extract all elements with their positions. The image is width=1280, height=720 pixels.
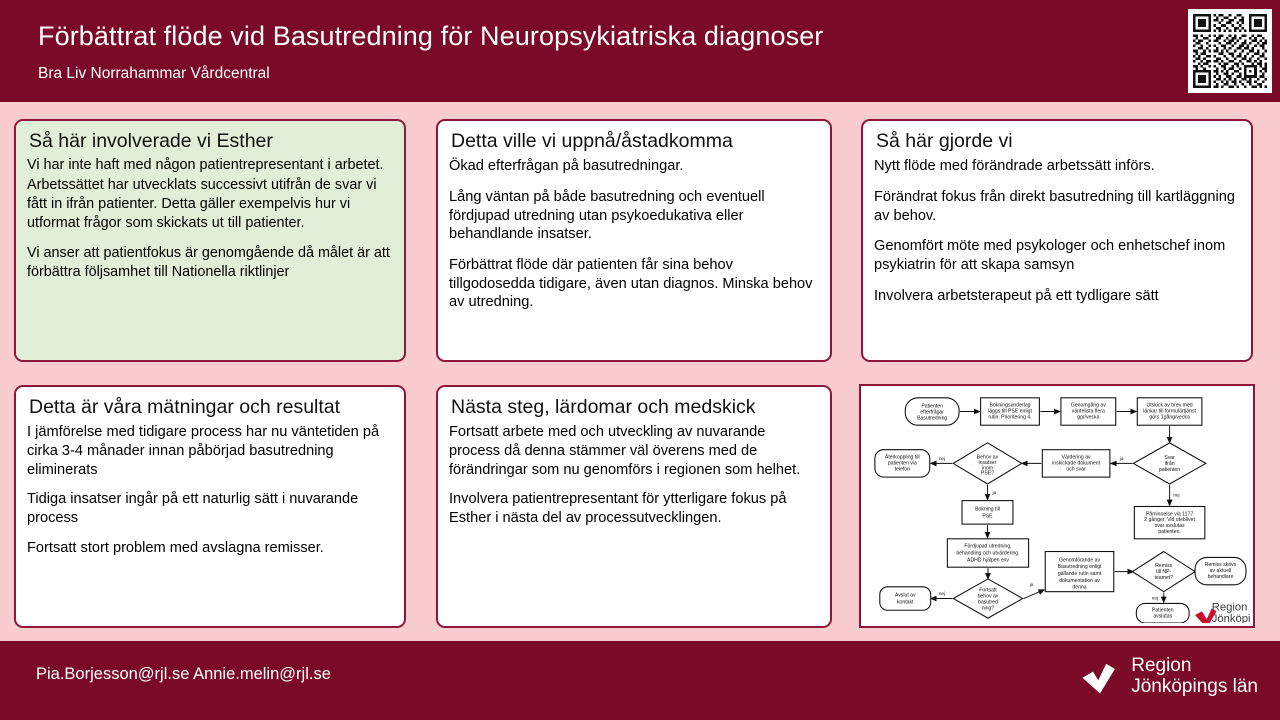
svg-text:patienten: patienten [1159,467,1180,473]
region-logo-line2: Jönköpings län [1131,676,1258,697]
svg-text:läggs till PSE enligt: läggs till PSE enligt [988,408,1032,414]
svg-text:ifrån: ifrån [1165,460,1175,467]
svg-text:denna: denna [1072,585,1086,591]
svg-text:ja: ja [1029,582,1034,587]
svg-text:PSE?: PSE? [981,471,994,477]
card-title: Så här gjorde vi [876,130,1240,153]
svg-text:ggr/vecka: ggr/vecka [1077,414,1099,420]
qr-code-container[interactable] [1188,9,1272,93]
svg-text:behov av: behov av [978,594,999,600]
card-paragraph: Förändrat fokus från direkt basutredning… [874,188,1240,225]
svg-text:nej: nej [939,591,945,596]
card-title: Nästa steg, lärdomar och medskick [451,396,819,419]
svg-text:nej: nej [1173,493,1179,498]
svg-text:Värdering av: Värdering av [1062,455,1091,461]
svg-text:avslutas: avslutas [1153,614,1172,620]
card-detta-ville-vi-uppna: Detta ville vi uppnå/åstadkomma Ökad eft… [436,119,832,362]
svg-text:Återkoppling till: Återkoppling till [885,454,920,461]
svg-text:basutred: basutred [978,599,998,605]
card-paragraph: Fortsatt arbete med och utveckling av nu… [449,423,819,479]
svg-text:Genomgång av: Genomgång av [1071,402,1106,409]
card-paragraph: Tidiga insatser ingår på ett naturlig sä… [27,490,393,527]
card-paragraph: Förbättrat flöde där patienten får sina … [449,256,819,312]
card-sa-har-involverade-vi-esther: Så här involverade vi Esther Vi har inte… [14,119,406,362]
qr-code-icon [1193,14,1267,88]
svg-text:PSE: PSE [982,513,993,519]
svg-text:Region: Region [1212,601,1248,613]
svg-text:och svar: och svar [1066,466,1086,472]
card-paragraph: Lång väntan på både basutredning och eve… [449,188,819,244]
svg-text:Utskick av brev med: Utskick av brev med [1147,403,1193,409]
card-paragraph: I jämförelse med tidigare process har nu… [27,423,393,479]
svg-text:Bokning till: Bokning till [975,506,1000,512]
card-nasta-steg-lardomar: Nästa steg, lärdomar och medskick Fortsa… [436,385,832,628]
svg-text:behandling och utvärdering.: behandling och utvärdering. [956,550,1019,556]
svg-text:ja: ja [992,490,997,495]
card-paragraph: Vi har inte haft med någon patientrepres… [27,156,393,233]
svg-text:ja: ja [1119,456,1124,461]
svg-text:väntelista flera: väntelista flera [1072,408,1105,414]
card-paragraph: Vi anser att patientfokus är genomgående… [27,244,393,282]
svg-text:Patienten: Patienten [1152,607,1174,613]
svg-text:2 gånger. Vid uteblivet: 2 gånger. Vid uteblivet [1144,516,1195,523]
card-body: Fortsatt arbete med och utveckling av nu… [449,423,819,527]
region-logo-icon [1079,655,1121,697]
region-logo-text: Region Jönköpings län [1131,655,1258,698]
svg-text:teamet?: teamet? [1154,575,1173,581]
svg-text:nej: nej [939,456,945,461]
poster-footer: Pia.Borjesson@rjl.se Annie.melin@rjl.se … [0,641,1280,720]
poster-root: Förbättrat flöde vid Basutredning för Ne… [0,0,1280,720]
svg-text:Genomförande av: Genomförande av [1059,557,1100,563]
svg-text:Fördjupad utredning,: Fördjupad utredning, [964,544,1011,550]
page-subtitle: Bra Liv Norrahammar Vårdcentral [38,65,270,83]
svg-text:patienten via: patienten via [888,460,917,466]
card-sa-har-gjorde-vi: Så här gjorde vi Nytt flöde med förändra… [861,119,1253,362]
poster-header: Förbättrat flöde vid Basutredning för Ne… [0,0,1280,102]
svg-text:efterfrågar: efterfrågar [920,408,944,415]
svg-text:Remiss: Remiss [1155,563,1173,569]
svg-text:Svar: Svar [1164,455,1175,461]
card-process-flowchart[interactable]: .nd { fill:#ffffff; stroke:#111111; stro… [859,384,1255,628]
svg-text:svar avslutas: svar avslutas [1155,523,1185,529]
svg-text:kontakt: kontakt [897,599,914,605]
svg-text:rutin. Prioritering 4.: rutin. Prioritering 4. [988,414,1031,420]
svg-text:Patienten: Patienten [921,404,943,410]
svg-text:ADHD hjälpen exv: ADHD hjälpen exv [967,557,1009,563]
svg-text:ning?: ning? [982,605,995,611]
svg-text:Fortsatt: Fortsatt [979,588,997,594]
svg-text:Remiss skrivs: Remiss skrivs [1205,562,1237,568]
svg-text:telefon: telefon [895,466,911,472]
card-paragraph: Genomfört möte med psykologer och enhets… [874,237,1240,274]
card-body: Ökad efterfrågan på basutredningar. Lång… [449,157,819,312]
card-body: I jämförelse med tidigare process har nu… [27,423,393,557]
region-logo-line1: Region [1131,655,1258,676]
svg-text:länkar till formulärtjänst: länkar till formulärtjänst [1143,408,1196,414]
card-body: Vi har inte haft med någon patientrepres… [27,156,393,282]
card-paragraph: Ökad efterfrågan på basutredningar. [449,157,819,176]
card-body: Nytt flöde med förändrade arbetssätt inf… [874,157,1240,305]
card-paragraph: Involvera arbetsterapeut på ett tydligar… [874,287,1240,306]
svg-text:av aktuell: av aktuell [1210,568,1232,574]
card-paragraph: Involvera patientrepresentant för ytterl… [449,490,819,527]
svg-text:Basutredning: Basutredning [917,415,947,421]
card-title: Så här involverade vi Esther [29,130,393,153]
svg-text:patienten.: patienten. [1158,529,1181,535]
svg-text:till NP-: till NP- [1156,569,1171,575]
card-title: Detta är våra mätningar och resultat [29,396,393,419]
svg-text:Basutredning enligt: Basutredning enligt [1058,564,1102,570]
flowchart-diagram: .nd { fill:#ffffff; stroke:#111111; stro… [864,389,1250,623]
svg-text:dokumentation av: dokumentation av [1059,578,1100,584]
flowchart-region-logo: Region Jönköpings län [1195,601,1250,623]
card-title: Detta ville vi uppnå/åstadkomma [451,130,819,153]
svg-text:gällande rutin samt: gällande rutin samt [1058,571,1102,577]
svg-text:Avslut av: Avslut av [895,593,916,599]
card-matningar-och-resultat: Detta är våra mätningar och resultat I j… [14,385,406,628]
card-paragraph: Fortsatt stort problem med avslagna remi… [27,539,393,558]
svg-text:Påminnelse via 1177: Påminnelse via 1177 [1146,510,1193,517]
page-title: Förbättrat flöde vid Basutredning för Ne… [38,21,823,52]
region-logo: Region Jönköpings län [1079,655,1258,698]
svg-text:nej: nej [1152,596,1158,601]
svg-text:behandlare: behandlare [1208,574,1234,580]
svg-text:Bokningsunderlag: Bokningsunderlag [989,403,1030,409]
card-paragraph: Nytt flöde med förändrade arbetssätt inf… [874,157,1240,176]
svg-text:inskickade dokument: inskickade dokument [1052,460,1100,466]
svg-text:görs 1gång/vecka: görs 1gång/vecka [1149,413,1190,420]
contact-emails[interactable]: Pia.Borjesson@rjl.se Annie.melin@rjl.se [36,665,331,684]
svg-text:Jönköpings län: Jönköpings län [1212,613,1250,623]
